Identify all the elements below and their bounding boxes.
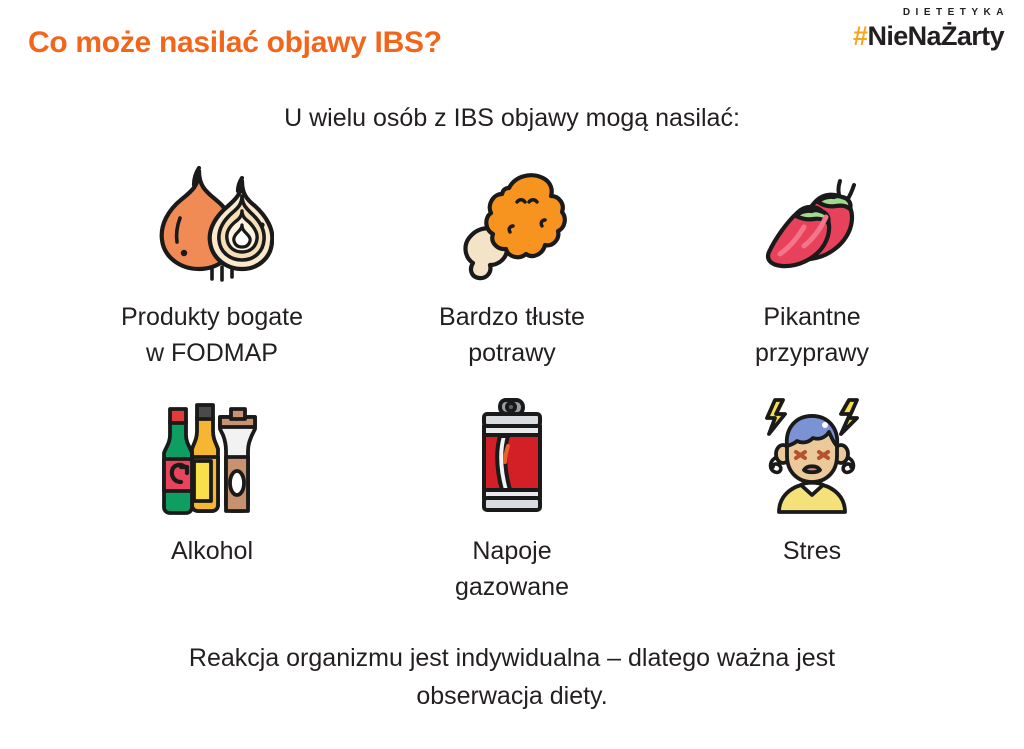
label-line-1: Stres <box>783 533 841 569</box>
label-line-2: w FODMAP <box>121 335 303 371</box>
fried-chicken-icon <box>447 160 577 285</box>
trigger-label: Pikantne przyprawy <box>755 299 869 372</box>
chili-pepper-icon <box>747 160 877 285</box>
trigger-row-1: Produkty bogate w FODMAP <box>62 160 962 372</box>
trigger-label: Napoje gazowane <box>455 533 569 606</box>
logo-main-text: #NieNaŻarty <box>853 23 1004 50</box>
trigger-label: Bardzo tłuste potrawy <box>439 299 585 372</box>
label-line-1: Produkty bogate <box>121 299 303 335</box>
trigger-label: Alkohol <box>171 533 253 569</box>
alcohol-bottles-icon <box>147 394 277 519</box>
trigger-item-stress: Stres <box>662 394 962 569</box>
trigger-label: Stres <box>783 533 841 569</box>
label-line-2: przyprawy <box>755 335 869 371</box>
footer-note: Reakcja organizmu jest indywidualna – dl… <box>60 640 964 715</box>
trigger-item-fodmap: Produkty bogate w FODMAP <box>62 160 362 372</box>
logo-top-text: DIETETYKA <box>853 8 1009 18</box>
label-line-2: potrawy <box>439 335 585 371</box>
infographic-page: Co może nasilać objawy IBS? DIETETYKA #N… <box>0 0 1024 749</box>
trigger-item-alcohol: Alkohol <box>62 394 362 569</box>
label-line-1: Bardzo tłuste <box>439 299 585 335</box>
soda-can-icon <box>447 394 577 519</box>
brand-logo: DIETETYKA #NieNaŻarty <box>853 8 1004 50</box>
trigger-item-fatty-food: Bardzo tłuste potrawy <box>362 160 662 372</box>
stressed-person-icon <box>747 394 877 519</box>
page-title: Co może nasilać objawy IBS? <box>28 26 442 60</box>
trigger-item-carbonated-drinks: Napoje gazowane <box>362 394 662 606</box>
trigger-grid: Produkty bogate w FODMAP <box>62 160 962 605</box>
label-line-2: gazowane <box>455 569 569 605</box>
label-line-1: Pikantne <box>755 299 869 335</box>
trigger-label: Produkty bogate w FODMAP <box>121 299 303 372</box>
onion-icon <box>147 160 277 285</box>
label-line-1: Alkohol <box>171 533 253 569</box>
logo-brand-name: NieNaŻarty <box>867 21 1004 51</box>
label-line-1: Napoje <box>455 533 569 569</box>
footer-line-2: obserwacja diety. <box>60 678 964 716</box>
trigger-row-2: Alkohol <box>62 394 962 606</box>
hash-symbol: # <box>853 21 867 51</box>
trigger-item-spices: Pikantne przyprawy <box>662 160 962 372</box>
subtitle: U wielu osób z IBS objawy mogą nasilać: <box>0 104 1024 133</box>
footer-line-1: Reakcja organizmu jest indywidualna – dl… <box>60 640 964 678</box>
